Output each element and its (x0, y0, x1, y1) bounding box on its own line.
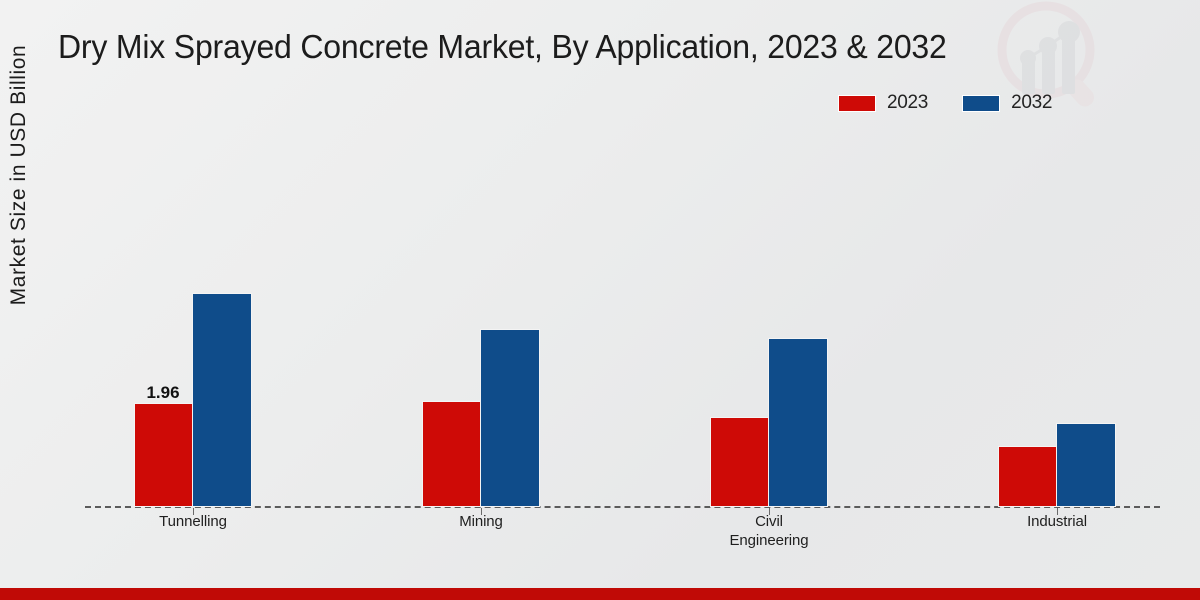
x-axis-label-civil-engineering: CivilEngineering (679, 512, 859, 550)
x-axis-label-mining: Mining (391, 512, 571, 531)
bar-tunnelling-2032[interactable] (192, 293, 252, 507)
bar-civil-engineering-2023[interactable] (710, 417, 770, 507)
bar-mining-2032[interactable] (480, 329, 540, 507)
bar-tunnelling-2023[interactable] (134, 403, 194, 507)
chart-canvas: Dry Mix Sprayed Concrete Market, By Appl… (0, 0, 1200, 600)
bar-civil-engineering-2032[interactable] (768, 338, 828, 507)
bar-value-label: 1.96 (134, 383, 192, 403)
bottom-accent-band (0, 588, 1200, 600)
x-axis-label-tunnelling: Tunnelling (103, 512, 283, 531)
bar-mining-2023[interactable] (422, 401, 482, 507)
bar-industrial-2023[interactable] (998, 446, 1058, 507)
plot-area: 1.96TunnellingMiningCivilEngineeringIndu… (0, 0, 1200, 600)
bar-industrial-2032[interactable] (1056, 423, 1116, 507)
x-axis-label-industrial: Industrial (967, 512, 1147, 531)
